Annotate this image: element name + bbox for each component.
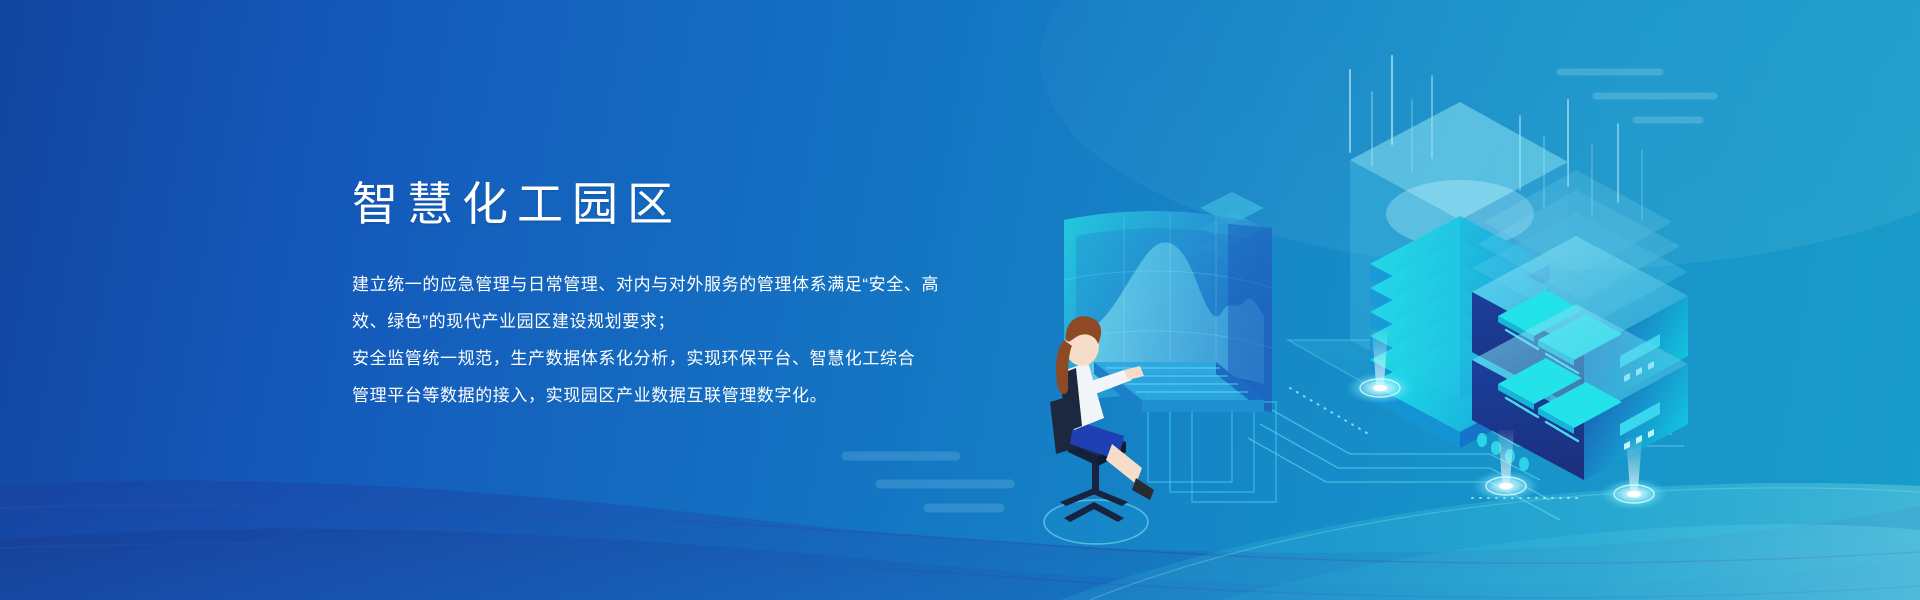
description-line-1: 建立统一的应急管理与日常管理、对内与对外服务的管理体系满足“安全、高 bbox=[352, 266, 1052, 303]
cloud-strokes-mid-left bbox=[846, 456, 1010, 508]
description-line-4: 管理平台等数据的接入，实现园区产业数据互联管理数字化。 bbox=[352, 377, 1052, 414]
description-line-2: 效、绿色”的现代产业园区建设规划要求； bbox=[352, 303, 1052, 340]
isometric-illustration bbox=[1020, 40, 1740, 560]
hero-copy: 智慧化工园区 建立统一的应急管理与日常管理、对内与对外服务的管理体系满足“安全、… bbox=[352, 176, 1052, 414]
page-title: 智慧化工园区 bbox=[352, 176, 1052, 232]
hero-banner: 智慧化工园区 建立统一的应急管理与日常管理、对内与对外服务的管理体系满足“安全、… bbox=[0, 0, 1920, 600]
description-line-3: 安全监管统一规范，生产数据体系化分析，实现环保平台、智慧化工综合 bbox=[352, 340, 1052, 377]
hero-description: 建立统一的应急管理与日常管理、对内与对外服务的管理体系满足“安全、高 效、绿色”… bbox=[352, 232, 1052, 414]
